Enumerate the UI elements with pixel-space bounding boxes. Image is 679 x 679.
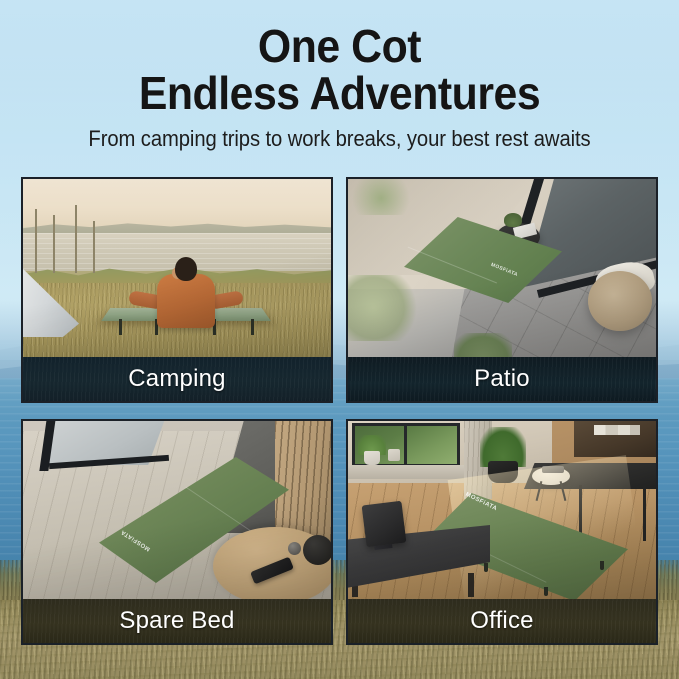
- camping-person-head: [175, 257, 197, 281]
- office-photo: MOSFiATA: [348, 421, 656, 599]
- office-cot-leg: [484, 563, 488, 572]
- caption-camping-label: Camping: [128, 365, 225, 393]
- caption-office: Office: [348, 599, 656, 643]
- caption-spare-bed-label: Spare Bed: [119, 607, 234, 635]
- office-window-sill: [348, 465, 474, 479]
- headline-line-1: One Cot: [24, 0, 655, 68]
- panel-patio[interactable]: MOSFiATA Patio: [346, 177, 658, 403]
- office-monitor: [362, 501, 407, 548]
- headline-line-2: Endless Adventures: [24, 68, 655, 115]
- header: One Cot Endless Adventures From camping …: [0, 0, 679, 170]
- office-window-plant-pot: [364, 451, 380, 465]
- panel-spare-bed[interactable]: MOSFiATA Spare Bed: [21, 419, 333, 645]
- camping-cot-leg: [251, 319, 254, 335]
- office-front-desk-leg: [468, 573, 474, 597]
- patio-plant-top: [350, 179, 412, 215]
- office-cot-leg: [544, 587, 548, 596]
- patio-photo: MOSFiATA: [348, 179, 656, 357]
- camping-photo: [23, 179, 331, 357]
- camping-tent-seam: [23, 264, 80, 336]
- office-window-mullion: [404, 423, 407, 467]
- spare-bed-vase: [303, 535, 331, 565]
- caption-patio: Patio: [348, 357, 656, 401]
- caption-camping: Camping: [23, 357, 331, 401]
- camping-person-body: [157, 274, 215, 328]
- patio-plant-left: [348, 275, 418, 341]
- spare-bed-decor-ball: [288, 542, 301, 555]
- caption-patio-label: Patio: [474, 365, 530, 393]
- patio-potted-plant: [504, 213, 522, 227]
- caption-spare-bed: Spare Bed: [23, 599, 331, 643]
- spare-bed-photo: MOSFiATA: [23, 421, 331, 599]
- camping-cot-leg: [119, 319, 122, 335]
- office-window-small-pot: [388, 449, 400, 461]
- office-desk-leg: [643, 485, 646, 541]
- subheadline: From camping trips to work breaks, your …: [27, 126, 652, 152]
- caption-office-label: Office: [470, 607, 533, 635]
- use-case-panel-grid: Camping MOSFiATA Patio: [21, 177, 658, 655]
- panel-office[interactable]: MOSFiATA Office: [346, 419, 658, 645]
- office-books: [594, 425, 640, 435]
- office-cot-leg: [600, 561, 604, 570]
- page-title: One Cot Endless Adventures: [0, 0, 679, 115]
- patio-rattan-chair: [588, 271, 652, 331]
- patio-succulent: [454, 333, 512, 357]
- camping-trees: [31, 201, 103, 273]
- panel-camping[interactable]: Camping: [21, 177, 333, 403]
